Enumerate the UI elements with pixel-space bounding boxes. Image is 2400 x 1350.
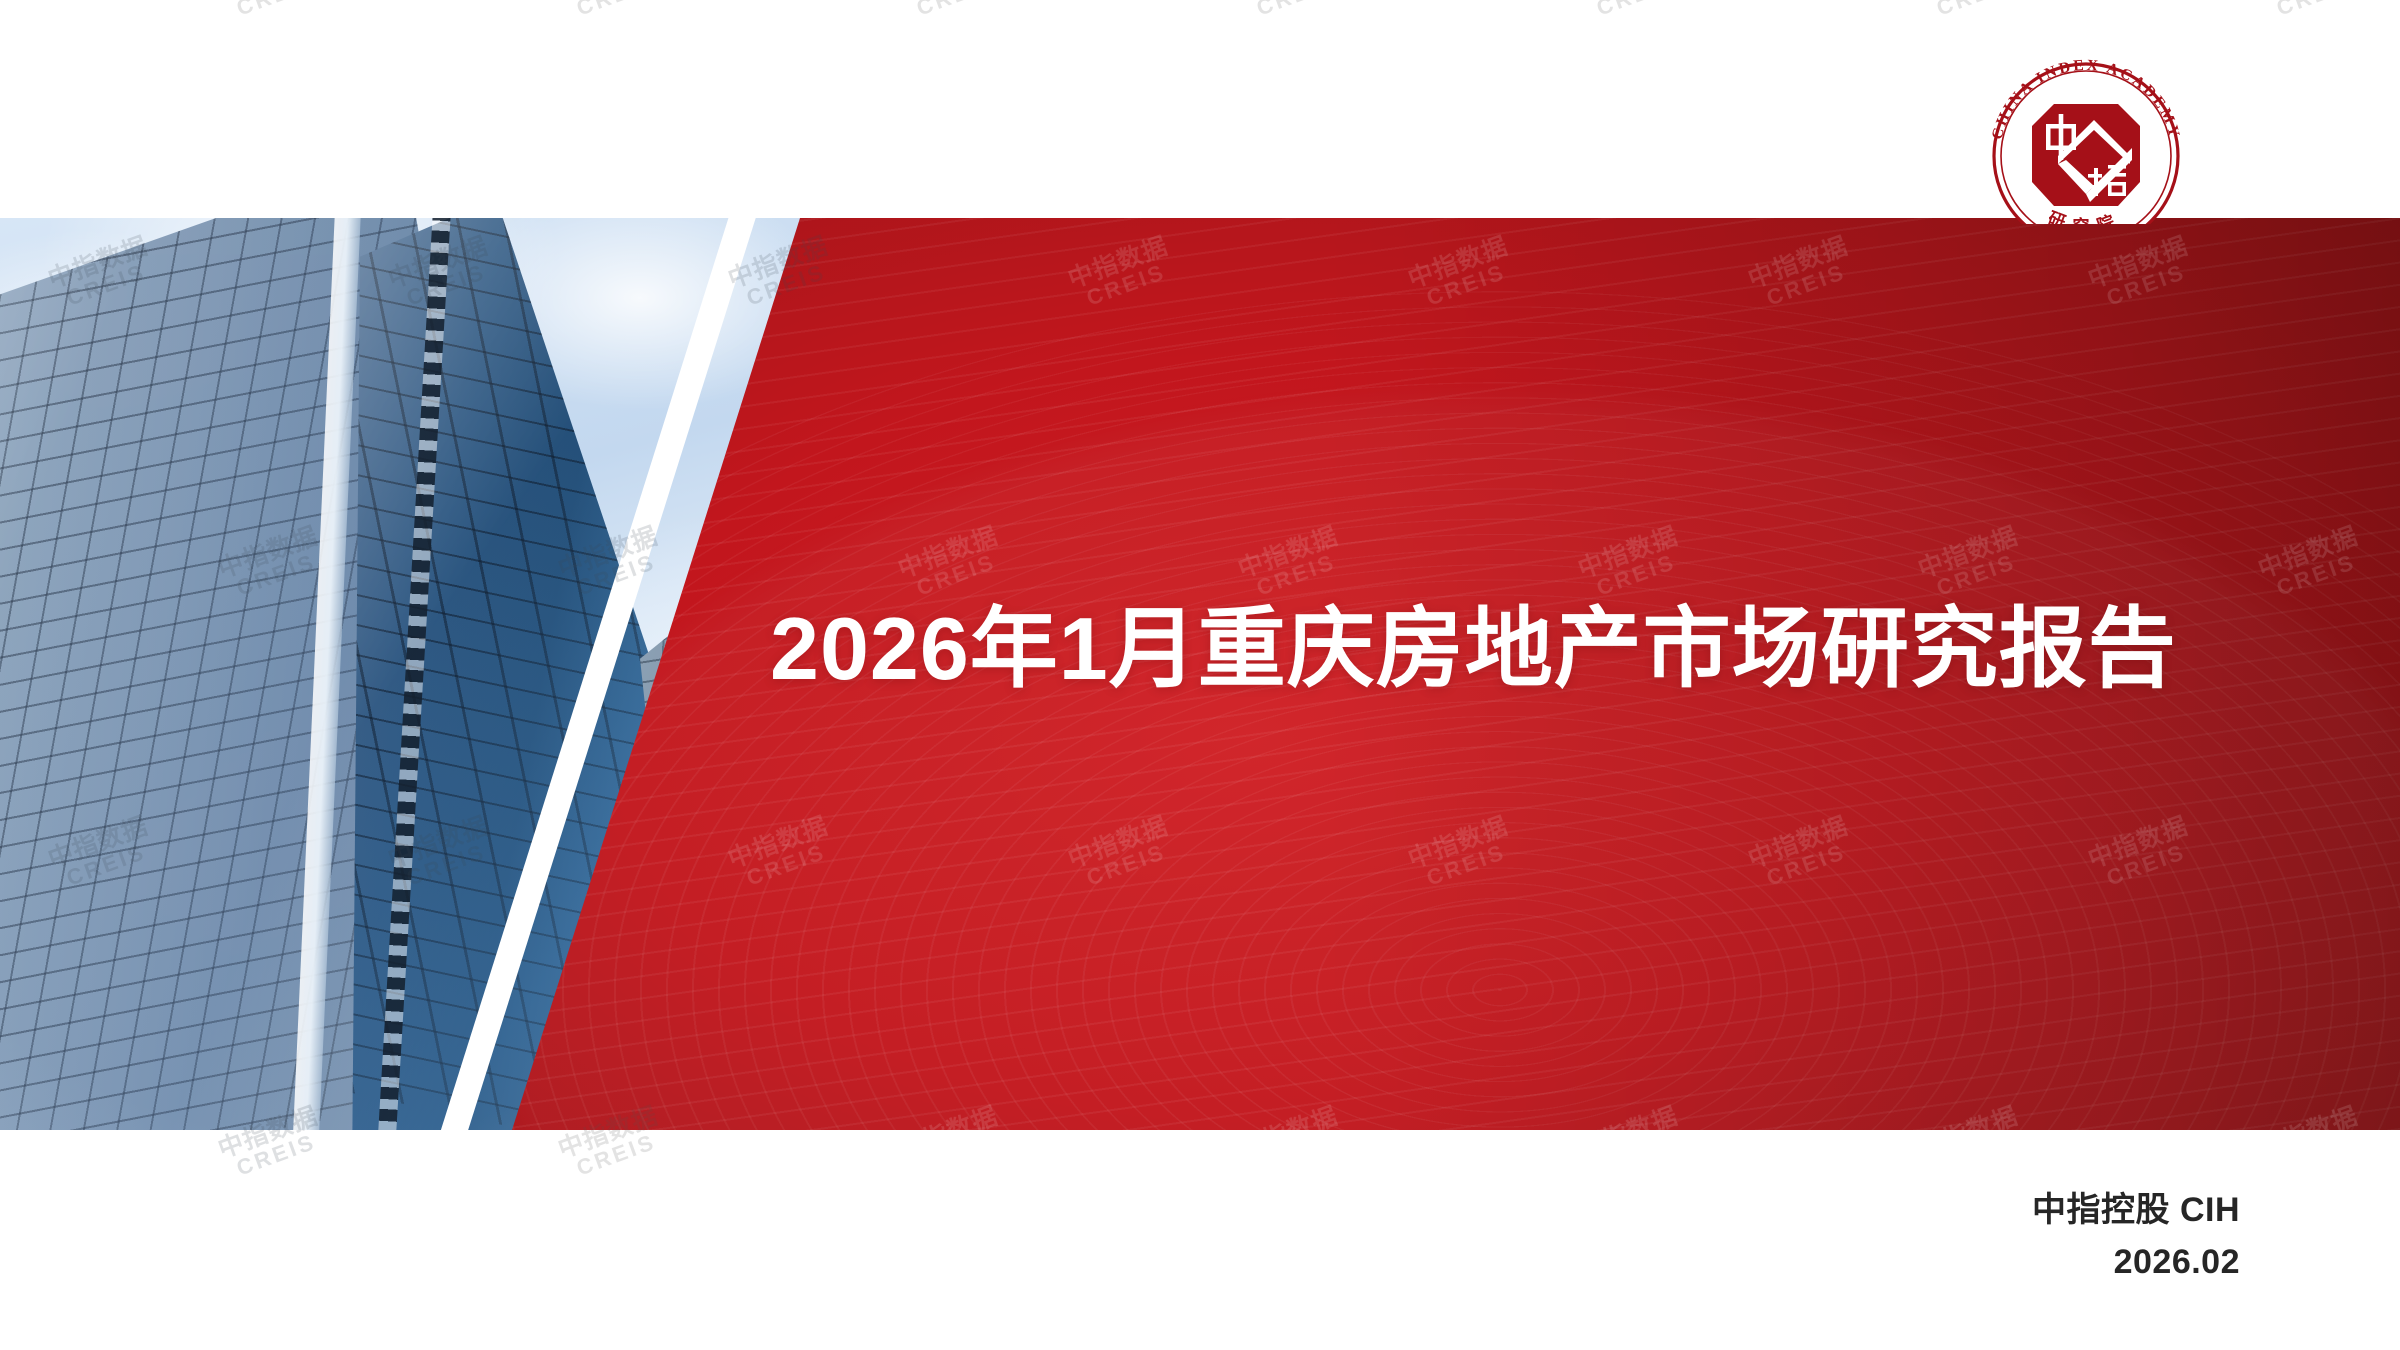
watermark: 中指数据CREIS — [895, 0, 1009, 23]
footer-block: 中指控股 CIH 2026.02 — [2032, 1188, 2240, 1284]
footer-organization: 中指控股 CIH — [2032, 1188, 2240, 1232]
watermark-line-en: CREIS — [564, 0, 669, 23]
watermark: 中指数据CREIS — [555, 0, 669, 23]
watermark-line-cn: 中指数据 — [1915, 0, 2021, 3]
watermark-line-en: CREIS — [224, 0, 329, 23]
watermark-line-en: CREIS — [1244, 0, 1349, 23]
report-cover-slide: 2026年1月重庆房地产市场研究报告 — [0, 0, 2400, 1350]
watermark-line-cn: 中指数据 — [555, 0, 661, 3]
watermark-line-cn: 中指数据 — [1575, 0, 1681, 3]
page-title: 2026年1月重庆房地产市场研究报告 — [770, 600, 2370, 699]
watermark: 中指数据CREIS — [2255, 0, 2369, 23]
watermark-line-cn: 中指数据 — [2255, 0, 2361, 3]
watermark-line-en: CREIS — [564, 1127, 669, 1183]
watermark-line-en: CREIS — [2264, 0, 2369, 23]
footer-date: 2026.02 — [2032, 1240, 2240, 1284]
watermark: 中指数据CREIS — [1235, 0, 1349, 23]
watermark-line-en: CREIS — [224, 1127, 329, 1183]
china-index-academy-logo: CHINA INDEX ACADEMY 研究院 — [1962, 52, 2210, 224]
watermark-line-cn: 中指数据 — [1235, 0, 1341, 3]
watermark-line-cn: 中指数据 — [215, 0, 321, 3]
watermark-line-cn: 中指数据 — [895, 0, 1001, 3]
watermark-line-en: CREIS — [1924, 0, 2029, 23]
watermark: 中指数据CREIS — [215, 0, 329, 23]
watermark-line-en: CREIS — [2264, 1127, 2369, 1183]
watermark-line-en: CREIS — [904, 0, 1009, 23]
watermark-line-en: CREIS — [1244, 1127, 1349, 1183]
watermark: 中指数据CREIS — [1575, 0, 1689, 23]
watermark-line-en: CREIS — [1924, 1127, 2029, 1183]
watermark-line-en: CREIS — [1584, 0, 1689, 23]
watermark-line-en: CREIS — [1584, 1127, 1689, 1183]
watermark-line-en: CREIS — [904, 1127, 1009, 1183]
watermark: 中指数据CREIS — [1915, 0, 2029, 23]
